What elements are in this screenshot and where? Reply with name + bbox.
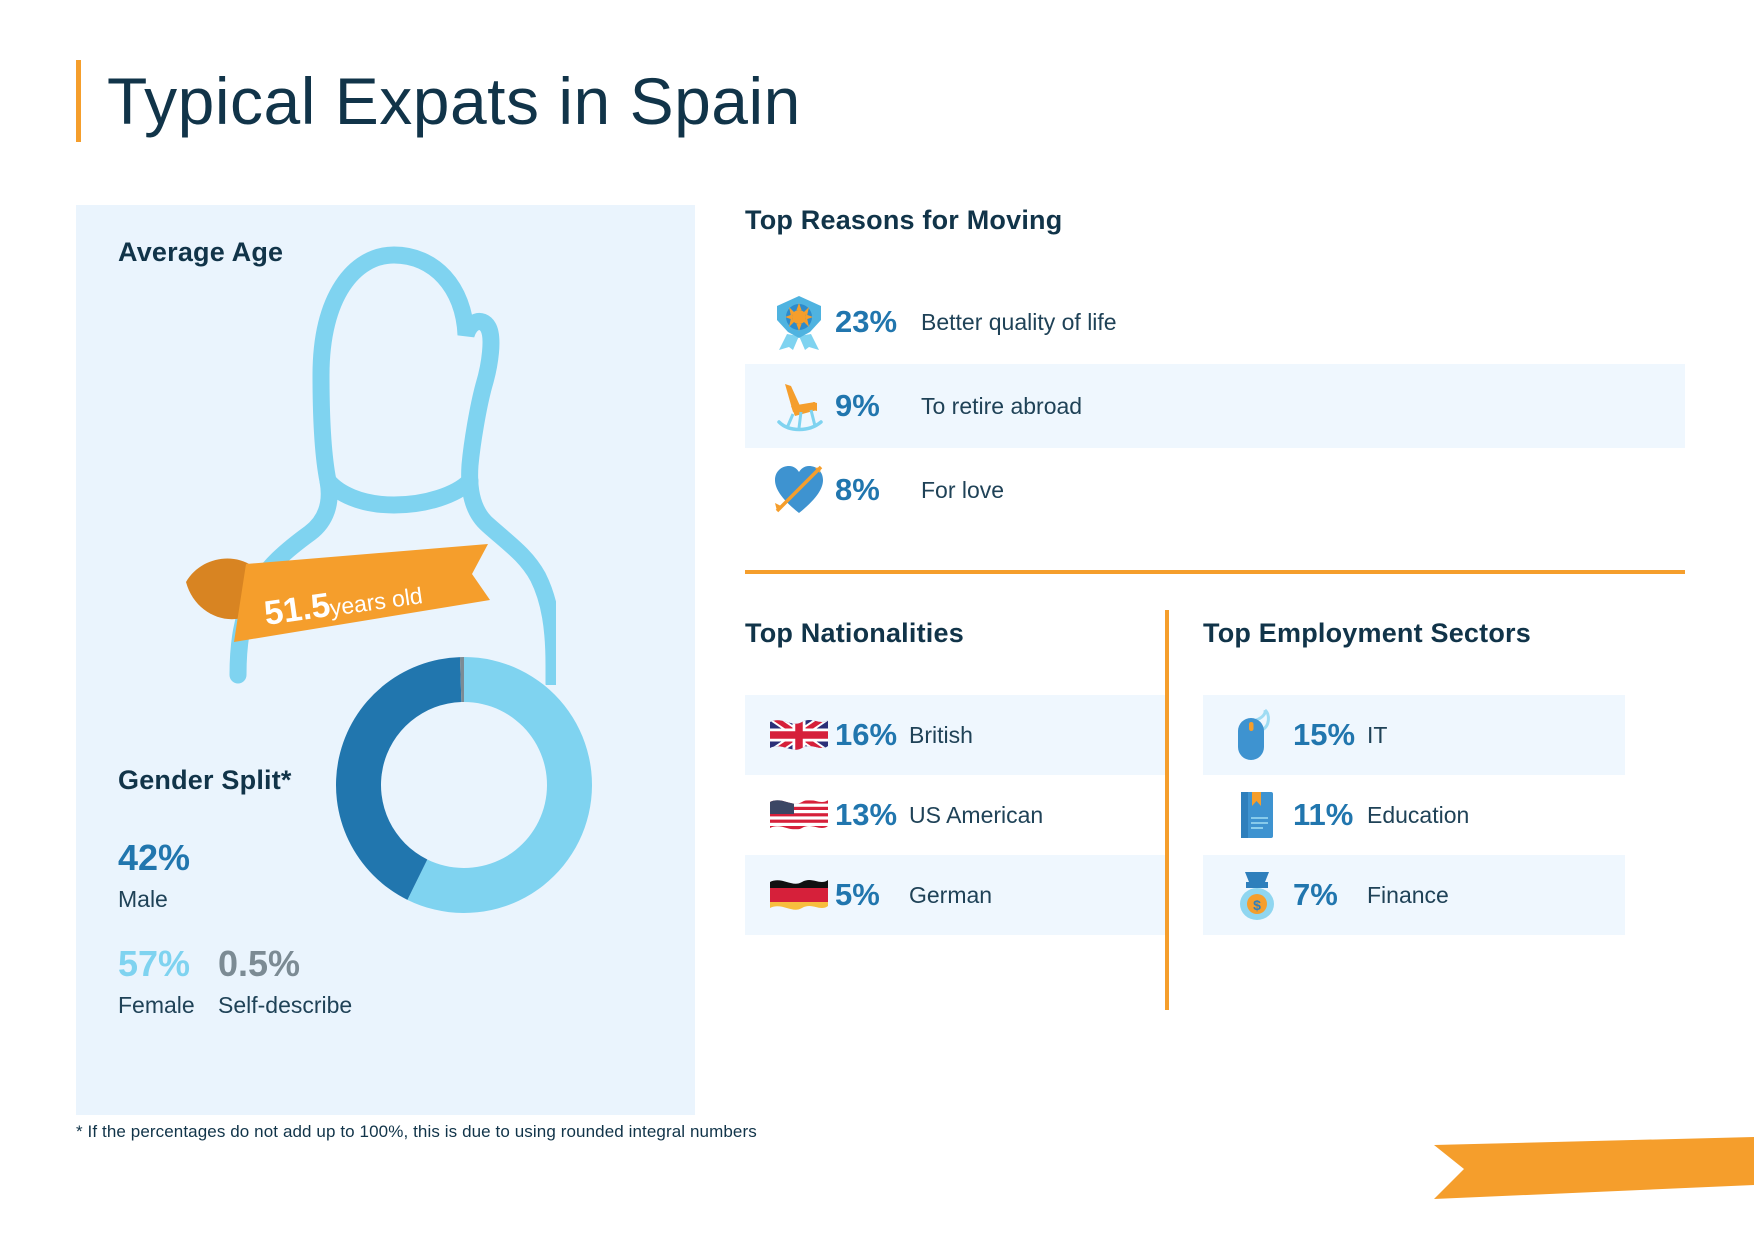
reason-row-for-love: 8% For love: [745, 448, 1685, 532]
employment-label: IT: [1367, 722, 1387, 749]
reason-pct: 23%: [835, 304, 921, 340]
nationalities-heading: Top Nationalities: [745, 618, 1165, 649]
employment-section: Top Employment Sectors 15% IT: [1165, 618, 1625, 935]
gender-female-pct: 57%: [118, 941, 218, 987]
reasons-heading: Top Reasons for Moving: [745, 205, 1685, 236]
gender-female-label: Female: [118, 987, 218, 1023]
gender-stat-male: 42% Male: [118, 835, 352, 917]
age-ribbon: 51.5 years old: [176, 530, 506, 665]
nationality-row-us-american: 13% US American: [745, 775, 1165, 855]
section-divider: [745, 570, 1685, 574]
flag-germany-icon: [763, 874, 835, 916]
nationality-label: British: [909, 722, 973, 749]
nationality-pct: 13%: [835, 797, 909, 833]
gender-selfdescribe-label: Self-describe: [218, 987, 352, 1023]
employment-label: Finance: [1367, 882, 1449, 909]
left-panel: Average Age 51.5 years old Gender Split*…: [76, 205, 695, 1115]
nationality-row-british: 16% British: [745, 695, 1165, 775]
donut-slice-male: [336, 657, 461, 900]
heart-arrow-icon: [763, 463, 835, 517]
reason-label: Better quality of life: [921, 309, 1117, 336]
nationality-pct: 5%: [835, 877, 909, 913]
gender-male-pct: 42%: [118, 835, 352, 881]
flag-uk-icon: [763, 714, 835, 756]
gender-male-label: Male: [118, 881, 352, 917]
computer-mouse-icon: [1221, 708, 1293, 762]
reasons-section: Top Reasons for Moving: [745, 205, 1685, 532]
gender-split-heading: Gender Split*: [118, 765, 292, 796]
page-title: Typical Expats in Spain: [76, 58, 801, 144]
employment-pct: 11%: [1293, 797, 1367, 833]
title-accent-bar: [76, 60, 81, 142]
right-column: Top Reasons for Moving: [745, 205, 1685, 935]
reason-row-retire-abroad: 9% To retire abroad: [745, 364, 1685, 448]
nationalities-section: Top Nationalities: [745, 618, 1165, 935]
employment-row-education: 11% Education: [1203, 775, 1625, 855]
reason-label: To retire abroad: [921, 393, 1082, 420]
employment-row-finance: $ 7% Finance: [1203, 855, 1625, 935]
money-bag-icon: $: [1221, 868, 1293, 922]
book-icon: [1221, 788, 1293, 842]
employment-heading: Top Employment Sectors: [1203, 618, 1625, 649]
gender-stat-female: 57% Female: [118, 941, 218, 1023]
reason-row-quality-of-life: 23% Better quality of life: [745, 280, 1685, 364]
infographic-page: Typical Expats in Spain Average Age 51.5…: [0, 0, 1754, 1240]
award-badge-icon: [763, 294, 835, 350]
reason-pct: 8%: [835, 472, 921, 508]
corner-ribbon-decoration: [1434, 1137, 1754, 1212]
gender-stat-self-describe: 0.5% Self-describe: [218, 941, 352, 1023]
gender-split-legend: 42% Male 57% Female 0.5% Self-describe: [118, 835, 352, 1023]
employment-row-it: 15% IT: [1203, 695, 1625, 775]
reason-label: For love: [921, 477, 1004, 504]
svg-text:$: $: [1253, 897, 1261, 913]
nationality-label: German: [909, 882, 992, 909]
employment-label: Education: [1367, 802, 1469, 829]
gender-selfdescribe-pct: 0.5%: [218, 941, 352, 987]
nationality-label: US American: [909, 802, 1043, 829]
employment-pct: 7%: [1293, 877, 1367, 913]
flag-us-icon: [763, 794, 835, 836]
nationality-pct: 16%: [835, 717, 909, 753]
nationality-row-german: 5% German: [745, 855, 1165, 935]
employment-pct: 15%: [1293, 717, 1367, 753]
page-title-text: Typical Expats in Spain: [107, 58, 801, 144]
rocking-chair-icon: [763, 378, 835, 434]
reason-pct: 9%: [835, 388, 921, 424]
footnote: * If the percentages do not add up to 10…: [76, 1122, 757, 1142]
gender-split-donut-chart: [334, 655, 594, 920]
